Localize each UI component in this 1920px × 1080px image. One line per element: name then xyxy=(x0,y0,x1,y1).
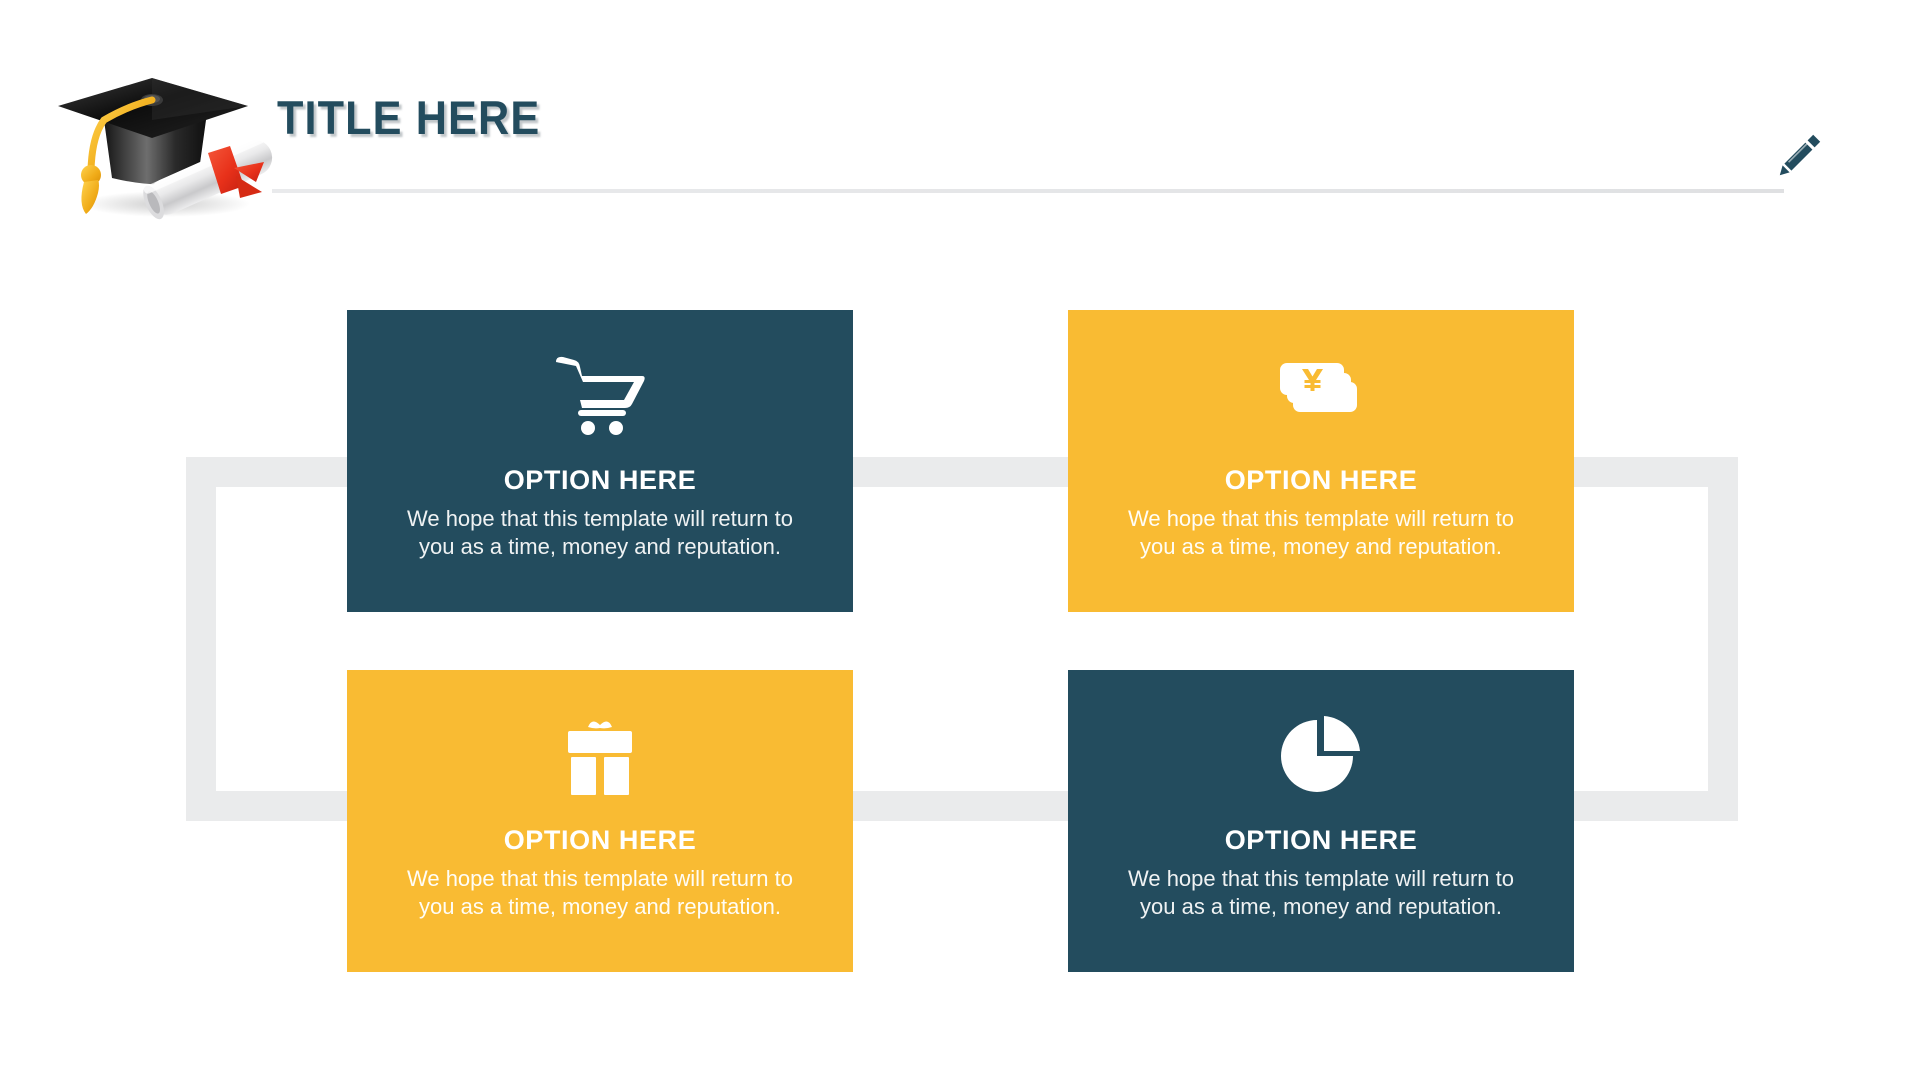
card-body: We hope that this template will return t… xyxy=(390,865,810,922)
graduation-cap-diploma-icon xyxy=(48,58,288,223)
gift-box-icon xyxy=(560,708,640,804)
page-title: TITLE HERE xyxy=(277,93,540,142)
card-body: We hope that this template will return t… xyxy=(1111,865,1531,922)
card-title: OPTION HERE xyxy=(1225,466,1418,496)
card-title: OPTION HERE xyxy=(1225,826,1418,856)
pie-chart-icon xyxy=(1279,708,1363,804)
option-card-4[interactable]: OPTION HERE We hope that this template w… xyxy=(1068,670,1574,972)
card-title: OPTION HERE xyxy=(504,466,697,496)
slide-header: TITLE HERE xyxy=(0,0,1920,230)
shopping-cart-icon xyxy=(554,348,646,444)
option-card-2[interactable]: OPTION HERE We hope that this template w… xyxy=(1068,310,1574,612)
card-body: We hope that this template will return t… xyxy=(1111,505,1531,562)
banknotes-yen-icon xyxy=(1275,348,1367,444)
option-card-1[interactable]: OPTION HERE We hope that this template w… xyxy=(347,310,853,612)
header-divider xyxy=(272,189,1784,193)
option-card-3[interactable]: OPTION HERE We hope that this template w… xyxy=(347,670,853,972)
slide-canvas: TITLE HERE xyxy=(0,0,1920,1080)
card-title: OPTION HERE xyxy=(504,826,697,856)
card-body: We hope that this template will return t… xyxy=(390,505,810,562)
pencil-icon[interactable] xyxy=(1775,128,1827,180)
